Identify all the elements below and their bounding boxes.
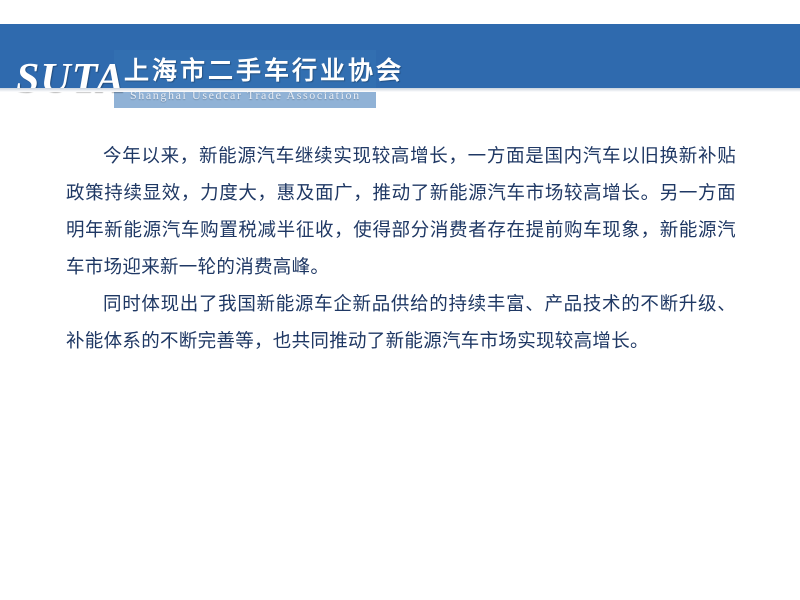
body-paragraph: 同时体现出了我国新能源车企新品供给的持续丰富、产品技术的不断升级、补能体系的不断… xyxy=(66,286,736,360)
slide-body: 今年以来，新能源汽车继续实现较高增长，一方面是国内汽车以旧换新补贴政策持续显效，… xyxy=(66,138,736,360)
organization-name-english: Shanghai Usedcar Trade Association xyxy=(130,88,361,102)
body-paragraph: 今年以来，新能源汽车继续实现较高增长，一方面是国内汽车以旧换新补贴政策持续显效，… xyxy=(66,138,736,286)
header-band: SUTA 上海市二手车行业协会 Shanghai Usedcar Trade A… xyxy=(0,24,800,88)
presentation-slide: SUTA 上海市二手车行业协会 Shanghai Usedcar Trade A… xyxy=(0,0,800,600)
suta-acronym-logo: SUTA xyxy=(16,56,125,102)
organization-name-chinese: 上海市二手车行业协会 xyxy=(124,57,404,85)
